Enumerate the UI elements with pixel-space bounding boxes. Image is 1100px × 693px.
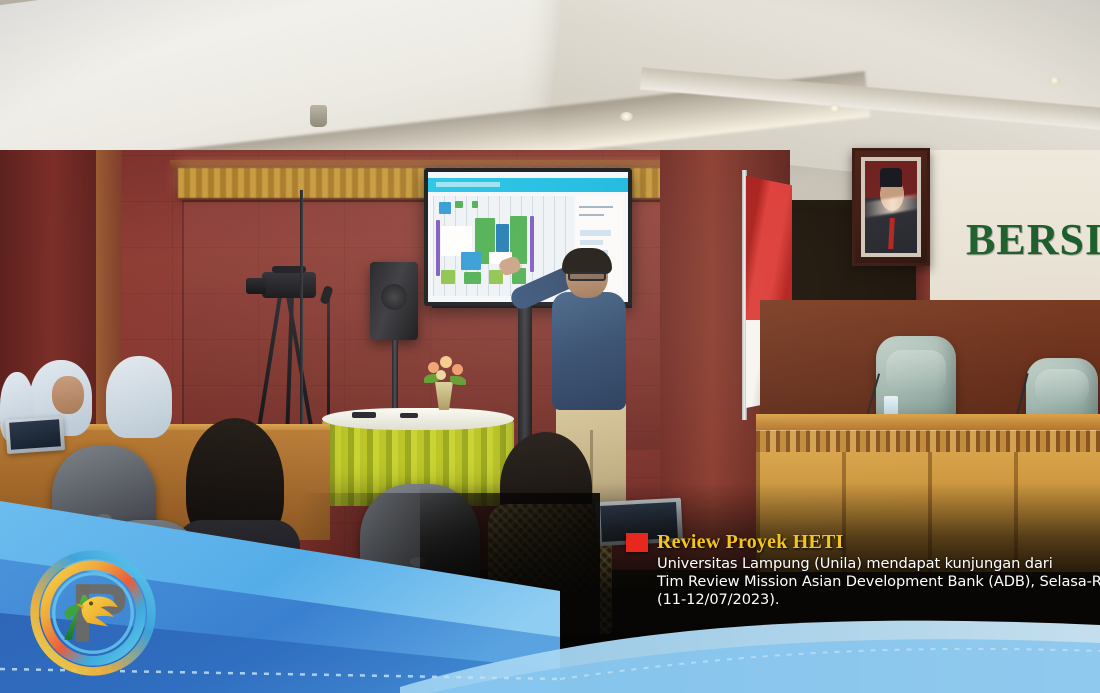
mic-stand xyxy=(327,300,330,432)
rostrum-carving xyxy=(756,430,1100,452)
attendee-hijab xyxy=(106,356,172,438)
glass-glare xyxy=(865,193,917,217)
chart-block xyxy=(464,272,481,284)
caption-block: Review Proyek HETI Universitas Lampung (… xyxy=(626,531,1096,608)
downlight-icon xyxy=(620,112,633,121)
slide-title-bar xyxy=(428,178,628,192)
attendee-face xyxy=(52,376,84,414)
pa-speaker xyxy=(370,262,418,340)
chart-block xyxy=(455,201,462,208)
flower-icon xyxy=(452,364,463,375)
caption-title: Review Proyek HETI xyxy=(657,531,844,554)
flower-icon xyxy=(440,356,452,368)
laptop-screen xyxy=(9,419,61,449)
glasses-icon xyxy=(568,272,606,281)
office-chair xyxy=(360,484,480,610)
presenter-hair xyxy=(562,248,612,274)
chart-block xyxy=(496,224,509,252)
rostrum-counter xyxy=(756,414,1100,430)
necktie xyxy=(888,218,894,249)
side-chip xyxy=(580,230,610,236)
table-remote xyxy=(352,412,376,418)
side-text-line xyxy=(579,214,604,216)
downlight-icon xyxy=(1048,76,1061,85)
red-bullet-icon xyxy=(626,533,648,552)
side-chip xyxy=(580,240,603,245)
ceiling-speaker-icon xyxy=(310,105,327,127)
mic-stand xyxy=(300,190,303,440)
news-photo-with-caption: BERSI Synerg xyxy=(0,0,1100,693)
caption-body: Universitas Lampung (Unila) mendapat kun… xyxy=(657,555,1096,608)
table-top xyxy=(322,408,514,430)
institution-logo xyxy=(26,546,160,680)
water-glass xyxy=(884,396,898,416)
portrait-mat xyxy=(861,157,921,257)
chart-block xyxy=(472,201,478,208)
chart-block xyxy=(461,252,481,270)
leaf-icon xyxy=(450,376,466,385)
side-text-line xyxy=(579,206,612,208)
portrait-frame xyxy=(852,148,930,266)
tv-stand-column xyxy=(518,306,532,456)
peci-cap xyxy=(880,168,903,186)
caption-line: (11-12/07/2023). xyxy=(657,591,1096,609)
flower-icon xyxy=(436,370,446,380)
wall-sign-primary: BERSI xyxy=(966,214,1100,265)
presenter-torso xyxy=(552,292,626,410)
caption-title-row: Review Proyek HETI xyxy=(626,531,1096,554)
portrait-photo xyxy=(865,161,917,253)
chart-block xyxy=(439,202,452,214)
table-remote xyxy=(400,413,418,418)
caption-line: Universitas Lampung (Unila) mendapat kun… xyxy=(657,555,1096,573)
downlight-icon xyxy=(828,104,841,113)
video-camera xyxy=(262,272,316,298)
caption-line: Tim Review Mission Asian Development Ban… xyxy=(657,573,1096,591)
chart-block xyxy=(441,270,455,284)
chart-block xyxy=(530,216,534,272)
camera-lens-icon xyxy=(246,278,266,294)
attendee-batik-shirt xyxy=(488,504,612,634)
chart-block xyxy=(436,220,440,276)
